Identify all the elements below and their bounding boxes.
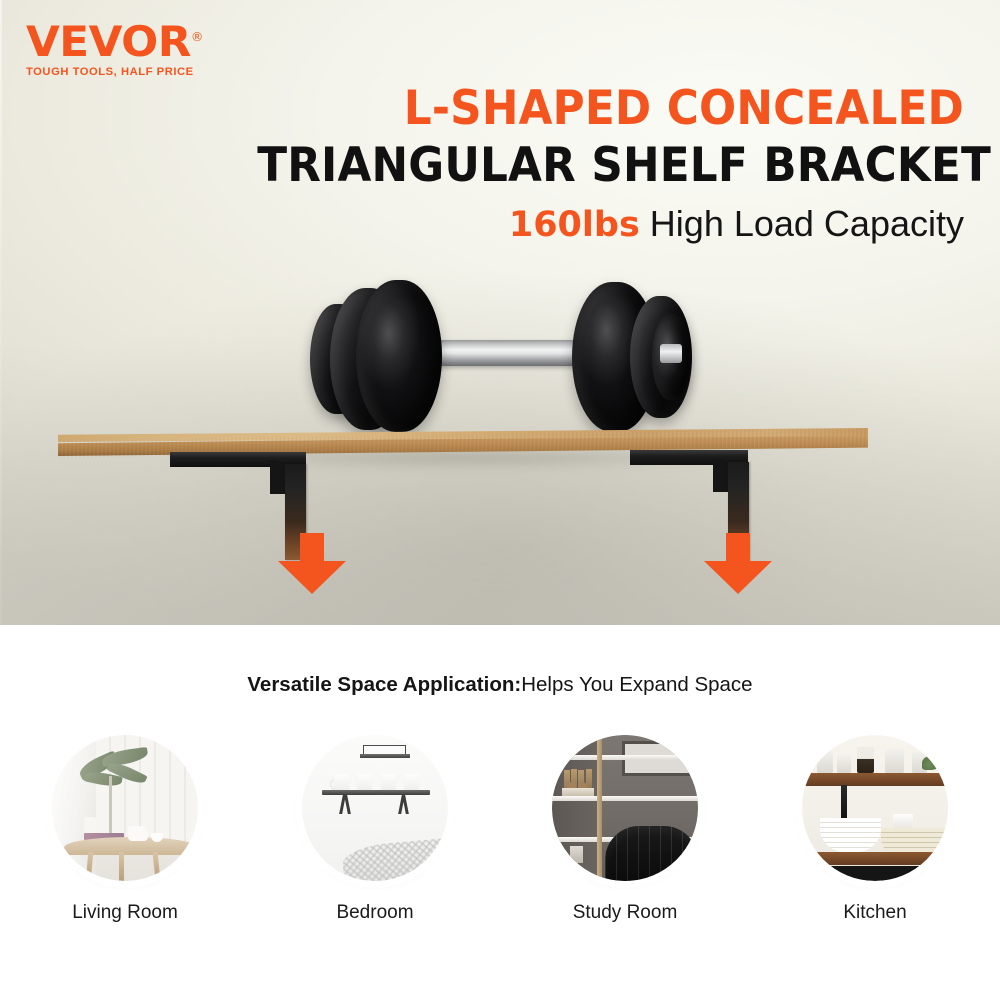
bookcase-shelf <box>552 755 698 760</box>
caption-rest: Helps You Expand Space <box>521 673 752 696</box>
headline-line-1: L-SHAPED CONCEALED <box>257 84 964 134</box>
logo-text: VEVOR <box>26 17 191 66</box>
shelf-bracket <box>344 795 350 814</box>
load-capacity-line: 160lbs High Load Capacity <box>204 204 964 245</box>
scene-study-room <box>552 735 698 881</box>
thumbnail-living-room <box>52 735 198 881</box>
scene-bedroom <box>302 735 448 881</box>
teapot <box>128 826 148 841</box>
mug <box>357 774 372 791</box>
dumbbell-end-cap <box>660 344 682 363</box>
dumbbell-plate <box>356 280 442 432</box>
glass-jar <box>817 751 833 773</box>
application-item-study-room: Study Room <box>525 735 725 925</box>
capacity-value: 160lbs <box>509 205 640 245</box>
shelf-bracket <box>841 785 847 823</box>
logo-tagline: TOUGH TOOLS, HALF PRICE <box>26 66 226 79</box>
application-item-living-room: Living Room <box>25 735 225 925</box>
chair-ribbing <box>605 826 698 881</box>
knit-blanket <box>341 836 448 881</box>
bookcase-shelf <box>552 796 698 801</box>
scene-living-room <box>52 735 198 881</box>
glass-jar <box>857 747 874 773</box>
wooden-shelf <box>802 773 948 786</box>
dumbbell <box>300 278 700 433</box>
bookcase-edge <box>597 735 602 881</box>
table-leg <box>119 852 124 881</box>
stacked-bowls <box>820 818 881 852</box>
application-label: Bedroom <box>275 901 475 925</box>
vevor-logo: VEVOR® TOUGH TOOLS, HALF PRICE <box>26 16 226 79</box>
mug <box>404 774 419 791</box>
application-label: Kitchen <box>775 901 975 925</box>
upper-wall-shelf <box>360 754 410 758</box>
applications-panel: Versatile Space Application:Helps You Ex… <box>0 625 1000 1000</box>
thumbnail-kitchen <box>802 735 948 881</box>
shelf-bracket <box>402 795 408 814</box>
wooden-shelf <box>802 852 948 865</box>
stacked-plates <box>881 828 945 851</box>
application-item-kitchen: Kitchen <box>775 735 975 925</box>
caption-lead: Versatile Space Application: <box>247 673 521 696</box>
hero-product-panel: VEVOR® TOUGH TOOLS, HALF PRICE L-SHAPED … <box>0 0 1000 625</box>
headline-block: L-SHAPED CONCEALED TRIANGULAR SHELF BRAC… <box>204 84 964 245</box>
counter-shadow <box>802 866 948 881</box>
application-list: Living Room <box>0 735 1000 925</box>
wall-corner-seam <box>0 0 2 625</box>
thumbnail-study-room <box>552 735 698 881</box>
glass-jar <box>885 749 904 773</box>
stacked-books <box>562 788 594 797</box>
mug <box>893 814 913 829</box>
capacity-text: High Load Capacity <box>640 203 964 244</box>
load-arrow-down-icon <box>700 533 776 595</box>
application-label: Living Room <box>25 901 225 925</box>
application-item-bedroom: Bedroom <box>275 735 475 925</box>
leather-chair <box>605 826 698 881</box>
registered-trademark-icon: ® <box>191 30 203 44</box>
thumbnail-bedroom <box>302 735 448 881</box>
scene-kitchen <box>802 735 948 881</box>
headline-line-2: TRIANGULAR SHELF BRACKET <box>257 140 964 192</box>
jar <box>570 846 583 863</box>
logo-wordmark: VEVOR® <box>26 16 234 63</box>
glass-jar <box>837 755 851 773</box>
mug <box>381 774 396 791</box>
application-label: Study Room <box>525 901 725 925</box>
load-arrow-down-icon <box>274 533 350 595</box>
table-leg <box>153 852 161 881</box>
wall-shelf <box>322 790 430 795</box>
mug <box>334 774 349 791</box>
plant <box>922 756 940 770</box>
applications-caption: Versatile Space Application:Helps You Ex… <box>0 672 1000 698</box>
